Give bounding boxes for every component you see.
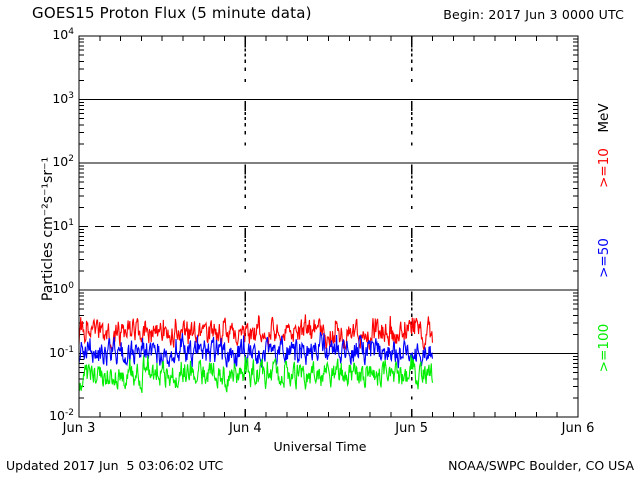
updated-timestamp: Updated 2017 Jun 5 03:06:02 UTC <box>6 460 223 473</box>
legend-entry-100: >=100 <box>596 313 612 383</box>
legend-entry-10: >=10 <box>596 133 612 203</box>
legend-entry-50: >=50 <box>596 223 612 293</box>
proton-flux-chart: GOES15 Proton Flux (5 minute data) Begin… <box>0 0 640 480</box>
y-tick-label: 10-1 <box>34 346 74 360</box>
y-tick-label: 103 <box>34 92 74 106</box>
x-tick-label: Jun 3 <box>39 422 119 435</box>
y-tick-label: 101 <box>34 219 74 233</box>
x-tick-label: Jun 5 <box>372 422 452 435</box>
source-credit: NOAA/SWPC Boulder, CO USA <box>448 460 634 473</box>
y-tick-label: 100 <box>34 282 74 296</box>
x-tick-label: Jun 4 <box>205 422 285 435</box>
x-tick-label: Jun 6 <box>538 422 618 435</box>
y-tick-label: 104 <box>34 28 74 42</box>
plot-area <box>0 0 640 480</box>
y-tick-label: 102 <box>34 155 74 169</box>
